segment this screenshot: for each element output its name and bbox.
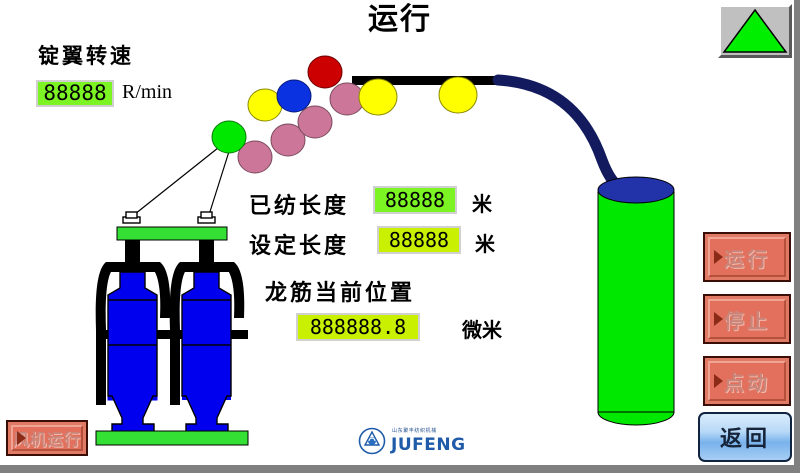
back-button[interactable]: 返回	[698, 412, 792, 462]
arrow-right-icon	[714, 250, 723, 264]
upper-rail	[117, 227, 227, 240]
bobbin-top	[598, 177, 674, 203]
rail-position-unit: 微米	[462, 314, 502, 343]
company-logo: 山东聚丰纺织机械 JUFENG	[358, 424, 468, 458]
ball-red	[308, 56, 342, 88]
ball-yellow-3	[439, 77, 477, 113]
right-edge-strip	[794, 0, 800, 473]
run-button-label: 运行	[724, 243, 770, 272]
back-button-label: 返回	[720, 421, 770, 453]
yarn-curve	[498, 80, 640, 191]
arrow-right-icon	[714, 374, 723, 388]
logo-wordmark: JUFENG	[391, 435, 466, 455]
spun-length-unit: 米	[472, 188, 492, 217]
stop-button[interactable]: 停止	[703, 294, 791, 344]
arrow-right-icon	[17, 431, 26, 445]
ball-green	[212, 121, 246, 153]
rail-bolts	[123, 212, 215, 223]
jufeng-mark-icon	[358, 427, 386, 455]
thread-lines	[130, 140, 232, 218]
set-length-label: 设定长度	[249, 228, 349, 260]
run-button[interactable]: 运行	[703, 232, 791, 282]
fan-run-button[interactable]: 风机运行	[6, 420, 88, 456]
spun-length-label: 已纺长度	[249, 188, 349, 220]
logo-subtext: 山东聚丰纺织机械	[392, 427, 437, 434]
ball-yellow-2	[359, 79, 397, 115]
bottom-edge-strip	[0, 465, 800, 473]
flyer-speed-value: 88888	[36, 80, 114, 107]
spindle-left	[96, 240, 174, 433]
status-indicator-panel[interactable]	[718, 4, 792, 58]
ball-blue	[277, 80, 311, 112]
flyer-speed-label: 锭翼转速	[38, 40, 134, 70]
triangle-up-icon	[721, 7, 789, 55]
page-title: 运行	[300, 2, 500, 38]
lower-rail	[96, 431, 248, 445]
stop-button-label: 停止	[724, 305, 770, 334]
arrow-right-icon	[714, 312, 723, 326]
rail-position-value: 888888.8	[296, 313, 420, 341]
spindle-right	[170, 240, 248, 433]
set-length-unit: 米	[475, 228, 495, 257]
bobbin	[598, 177, 674, 425]
bobbin-body	[598, 192, 674, 412]
jog-button[interactable]: 点动	[703, 356, 791, 406]
hmi-screen: 运行 锭翼转速 88888 R/min 已纺长度 88888 米 设定长度 88…	[0, 0, 800, 473]
spindle-assembly	[96, 212, 248, 445]
flyer-speed-unit: R/min	[122, 81, 172, 104]
rail-position-label: 龙筋当前位置	[265, 275, 415, 307]
spun-length-value: 88888	[373, 186, 457, 214]
set-length-value[interactable]: 88888	[377, 226, 461, 254]
jog-button-label: 点动	[724, 367, 770, 396]
